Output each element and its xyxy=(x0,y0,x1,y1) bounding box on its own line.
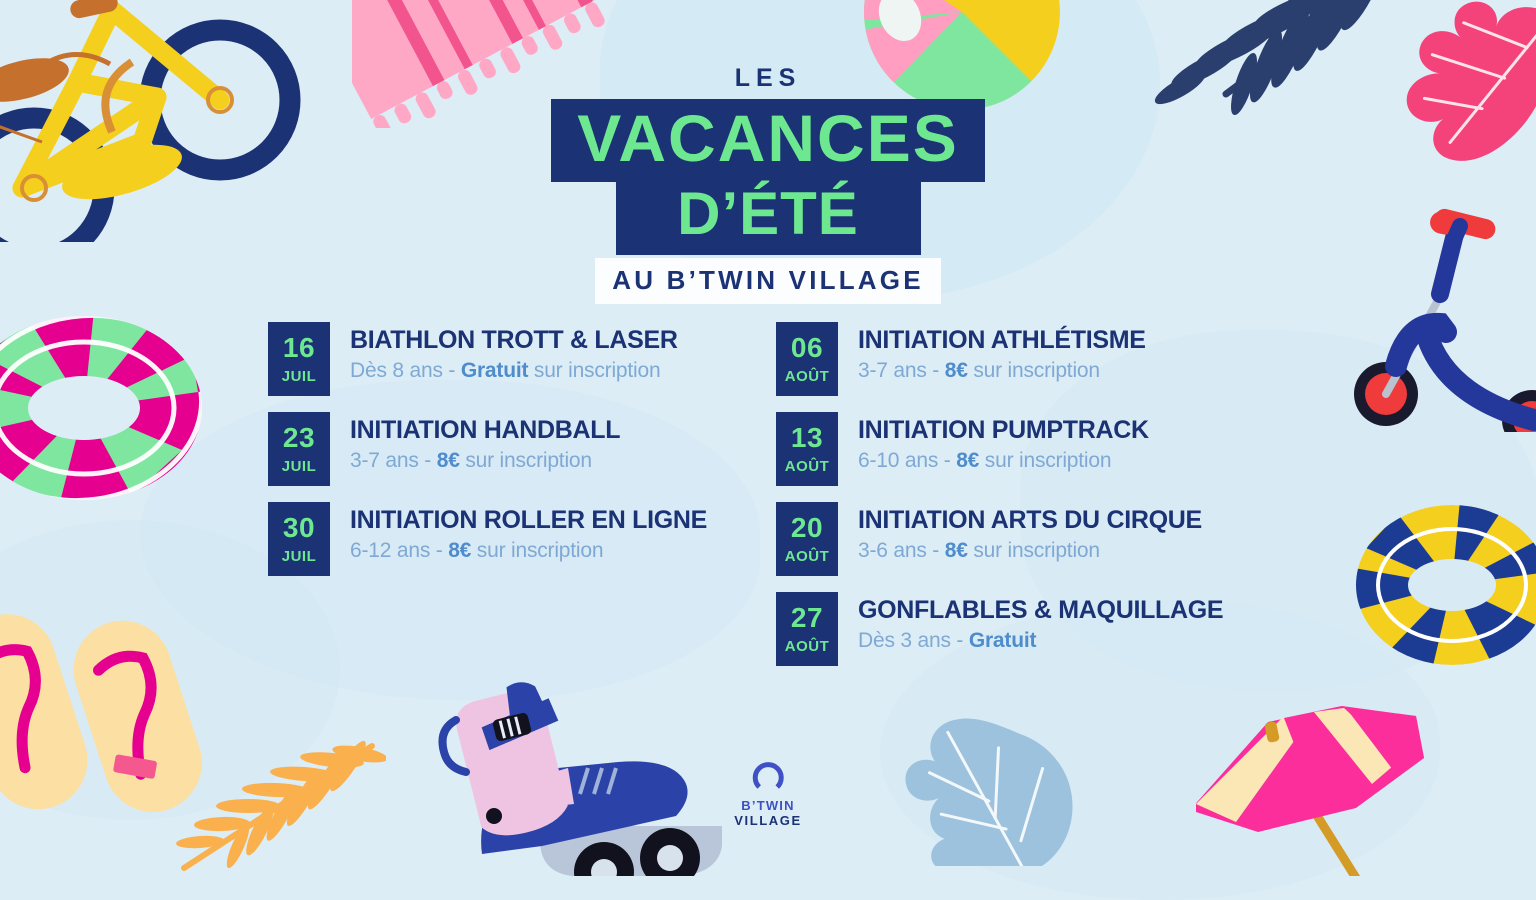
event-date-badge: 30 JUIL xyxy=(268,502,330,576)
event-month: AOÛT xyxy=(785,549,830,564)
event-price: 8€ xyxy=(945,359,968,382)
event-title: INITIATION ATHLÉTISME xyxy=(858,326,1146,354)
event-text: INITIATION PUMPTRACK 6-10 ans - 8€ sur i… xyxy=(838,412,1149,473)
event-day: 20 xyxy=(791,514,823,542)
events-column-left: 16 JUIL BIATHLON TROTT & LASER Dès 8 ans… xyxy=(268,322,768,592)
event-item[interactable]: 27 AOÛT GONFLABLES & MAQUILLAGE Dès 3 an… xyxy=(776,592,1296,666)
event-age: Dès 3 ans - xyxy=(858,629,969,652)
event-item[interactable]: 16 JUIL BIATHLON TROTT & LASER Dès 8 ans… xyxy=(268,322,768,396)
event-note: sur inscription xyxy=(968,539,1100,562)
event-day: 30 xyxy=(283,514,315,542)
yellow-swim-ring-illustration xyxy=(1352,490,1536,680)
event-note: sur inscription xyxy=(979,449,1111,472)
event-subtitle: 6-12 ans - 8€ sur inscription xyxy=(350,539,707,563)
beach-umbrella-illustration xyxy=(1196,696,1536,876)
event-item[interactable]: 13 AOÛT INITIATION PUMPTRACK 6-10 ans - … xyxy=(776,412,1296,486)
pink-swim-ring-illustration xyxy=(0,300,204,515)
orange-fern-illustration xyxy=(176,736,386,876)
event-date-badge: 27 AOÛT xyxy=(776,592,838,666)
poster-header: LES VACANCES D’ÉTÉ AU B’TWIN VILLAGE xyxy=(0,64,1536,304)
event-price: 8€ xyxy=(945,539,968,562)
event-age: Dès 8 ans - xyxy=(350,359,461,382)
event-subtitle: Dès 8 ans - Gratuit sur inscription xyxy=(350,359,678,383)
event-note: sur inscription xyxy=(460,449,592,472)
event-month: JUIL xyxy=(282,459,317,474)
event-title: INITIATION ROLLER EN LIGNE xyxy=(350,506,707,534)
event-text: INITIATION ROLLER EN LIGNE 6-12 ans - 8€… xyxy=(330,502,707,563)
roller-skate-illustration xyxy=(422,676,732,876)
event-price: 8€ xyxy=(448,539,471,562)
header-title-line1: VACANCES xyxy=(551,99,984,182)
event-price: 8€ xyxy=(956,449,979,472)
event-month: AOÛT xyxy=(785,639,830,654)
event-subtitle: 6-10 ans - 8€ sur inscription xyxy=(858,449,1149,473)
event-text: GONFLABLES & MAQUILLAGE Dès 3 ans - Grat… xyxy=(838,592,1223,653)
event-day: 13 xyxy=(791,424,823,452)
event-item[interactable]: 30 JUIL INITIATION ROLLER EN LIGNE 6-12 … xyxy=(268,502,768,576)
event-subtitle: 3-6 ans - 8€ sur inscription xyxy=(858,539,1202,563)
event-month: AOÛT xyxy=(785,369,830,384)
event-date-badge: 20 AOÛT xyxy=(776,502,838,576)
event-day: 06 xyxy=(791,334,823,362)
event-text: BIATHLON TROTT & LASER Dès 8 ans - Gratu… xyxy=(330,322,678,383)
event-item[interactable]: 20 AOÛT INITIATION ARTS DU CIRQUE 3-6 an… xyxy=(776,502,1296,576)
event-note: sur inscription xyxy=(471,539,603,562)
event-day: 27 xyxy=(791,604,823,632)
event-text: INITIATION HANDBALL 3-7 ans - 8€ sur ins… xyxy=(330,412,620,473)
event-text: INITIATION ARTS DU CIRQUE 3-6 ans - 8€ s… xyxy=(838,502,1202,563)
event-date-badge: 06 AOÛT xyxy=(776,322,838,396)
event-title: INITIATION HANDBALL xyxy=(350,416,620,444)
event-subtitle: Dès 3 ans - Gratuit xyxy=(858,629,1223,653)
event-title: INITIATION ARTS DU CIRQUE xyxy=(858,506,1202,534)
event-date-badge: 13 AOÛT xyxy=(776,412,838,486)
poster-canvas: LES VACANCES D’ÉTÉ AU B’TWIN VILLAGE 16 … xyxy=(0,0,1536,864)
event-day: 23 xyxy=(283,424,315,452)
event-price: 8€ xyxy=(437,449,460,472)
logo-name: B’TWIN xyxy=(734,798,802,813)
event-subtitle: 3-7 ans - 8€ sur inscription xyxy=(350,449,620,473)
event-price: Gratuit xyxy=(969,629,1036,652)
event-age: 6-10 ans - xyxy=(858,449,956,472)
event-age: 3-7 ans - xyxy=(350,449,437,472)
btwin-village-logo: B’TWIN VILLAGE xyxy=(734,756,802,828)
event-date-badge: 16 JUIL xyxy=(268,322,330,396)
event-day: 16 xyxy=(283,334,315,362)
header-subtitle: AU B’TWIN VILLAGE xyxy=(595,258,941,304)
event-title: GONFLABLES & MAQUILLAGE xyxy=(858,596,1223,624)
event-month: JUIL xyxy=(282,369,317,384)
event-item[interactable]: 23 JUIL INITIATION HANDBALL 3-7 ans - 8€… xyxy=(268,412,768,486)
event-title: BIATHLON TROTT & LASER xyxy=(350,326,678,354)
event-subtitle: 3-7 ans - 8€ sur inscription xyxy=(858,359,1146,383)
events-column-right: 06 AOÛT INITIATION ATHLÉTISME 3-7 ans - … xyxy=(776,322,1296,682)
event-age: 3-7 ans - xyxy=(858,359,945,382)
event-price: Gratuit xyxy=(461,359,528,382)
header-title-line2: D’ÉTÉ xyxy=(616,182,921,255)
event-month: JUIL xyxy=(282,549,317,564)
event-note: sur inscription xyxy=(968,359,1100,382)
event-age: 3-6 ans - xyxy=(858,539,945,562)
blue-leaf-illustration xyxy=(898,716,1098,866)
event-age: 6-12 ans - xyxy=(350,539,448,562)
event-item[interactable]: 06 AOÛT INITIATION ATHLÉTISME 3-7 ans - … xyxy=(776,322,1296,396)
event-date-badge: 23 JUIL xyxy=(268,412,330,486)
header-kicker: LES xyxy=(0,64,1536,93)
event-month: AOÛT xyxy=(785,459,830,474)
event-note: sur inscription xyxy=(528,359,660,382)
logo-sub: VILLAGE xyxy=(734,813,802,828)
btwin-arc-icon xyxy=(751,756,785,790)
event-title: INITIATION PUMPTRACK xyxy=(858,416,1149,444)
event-text: INITIATION ATHLÉTISME 3-7 ans - 8€ sur i… xyxy=(838,322,1146,383)
